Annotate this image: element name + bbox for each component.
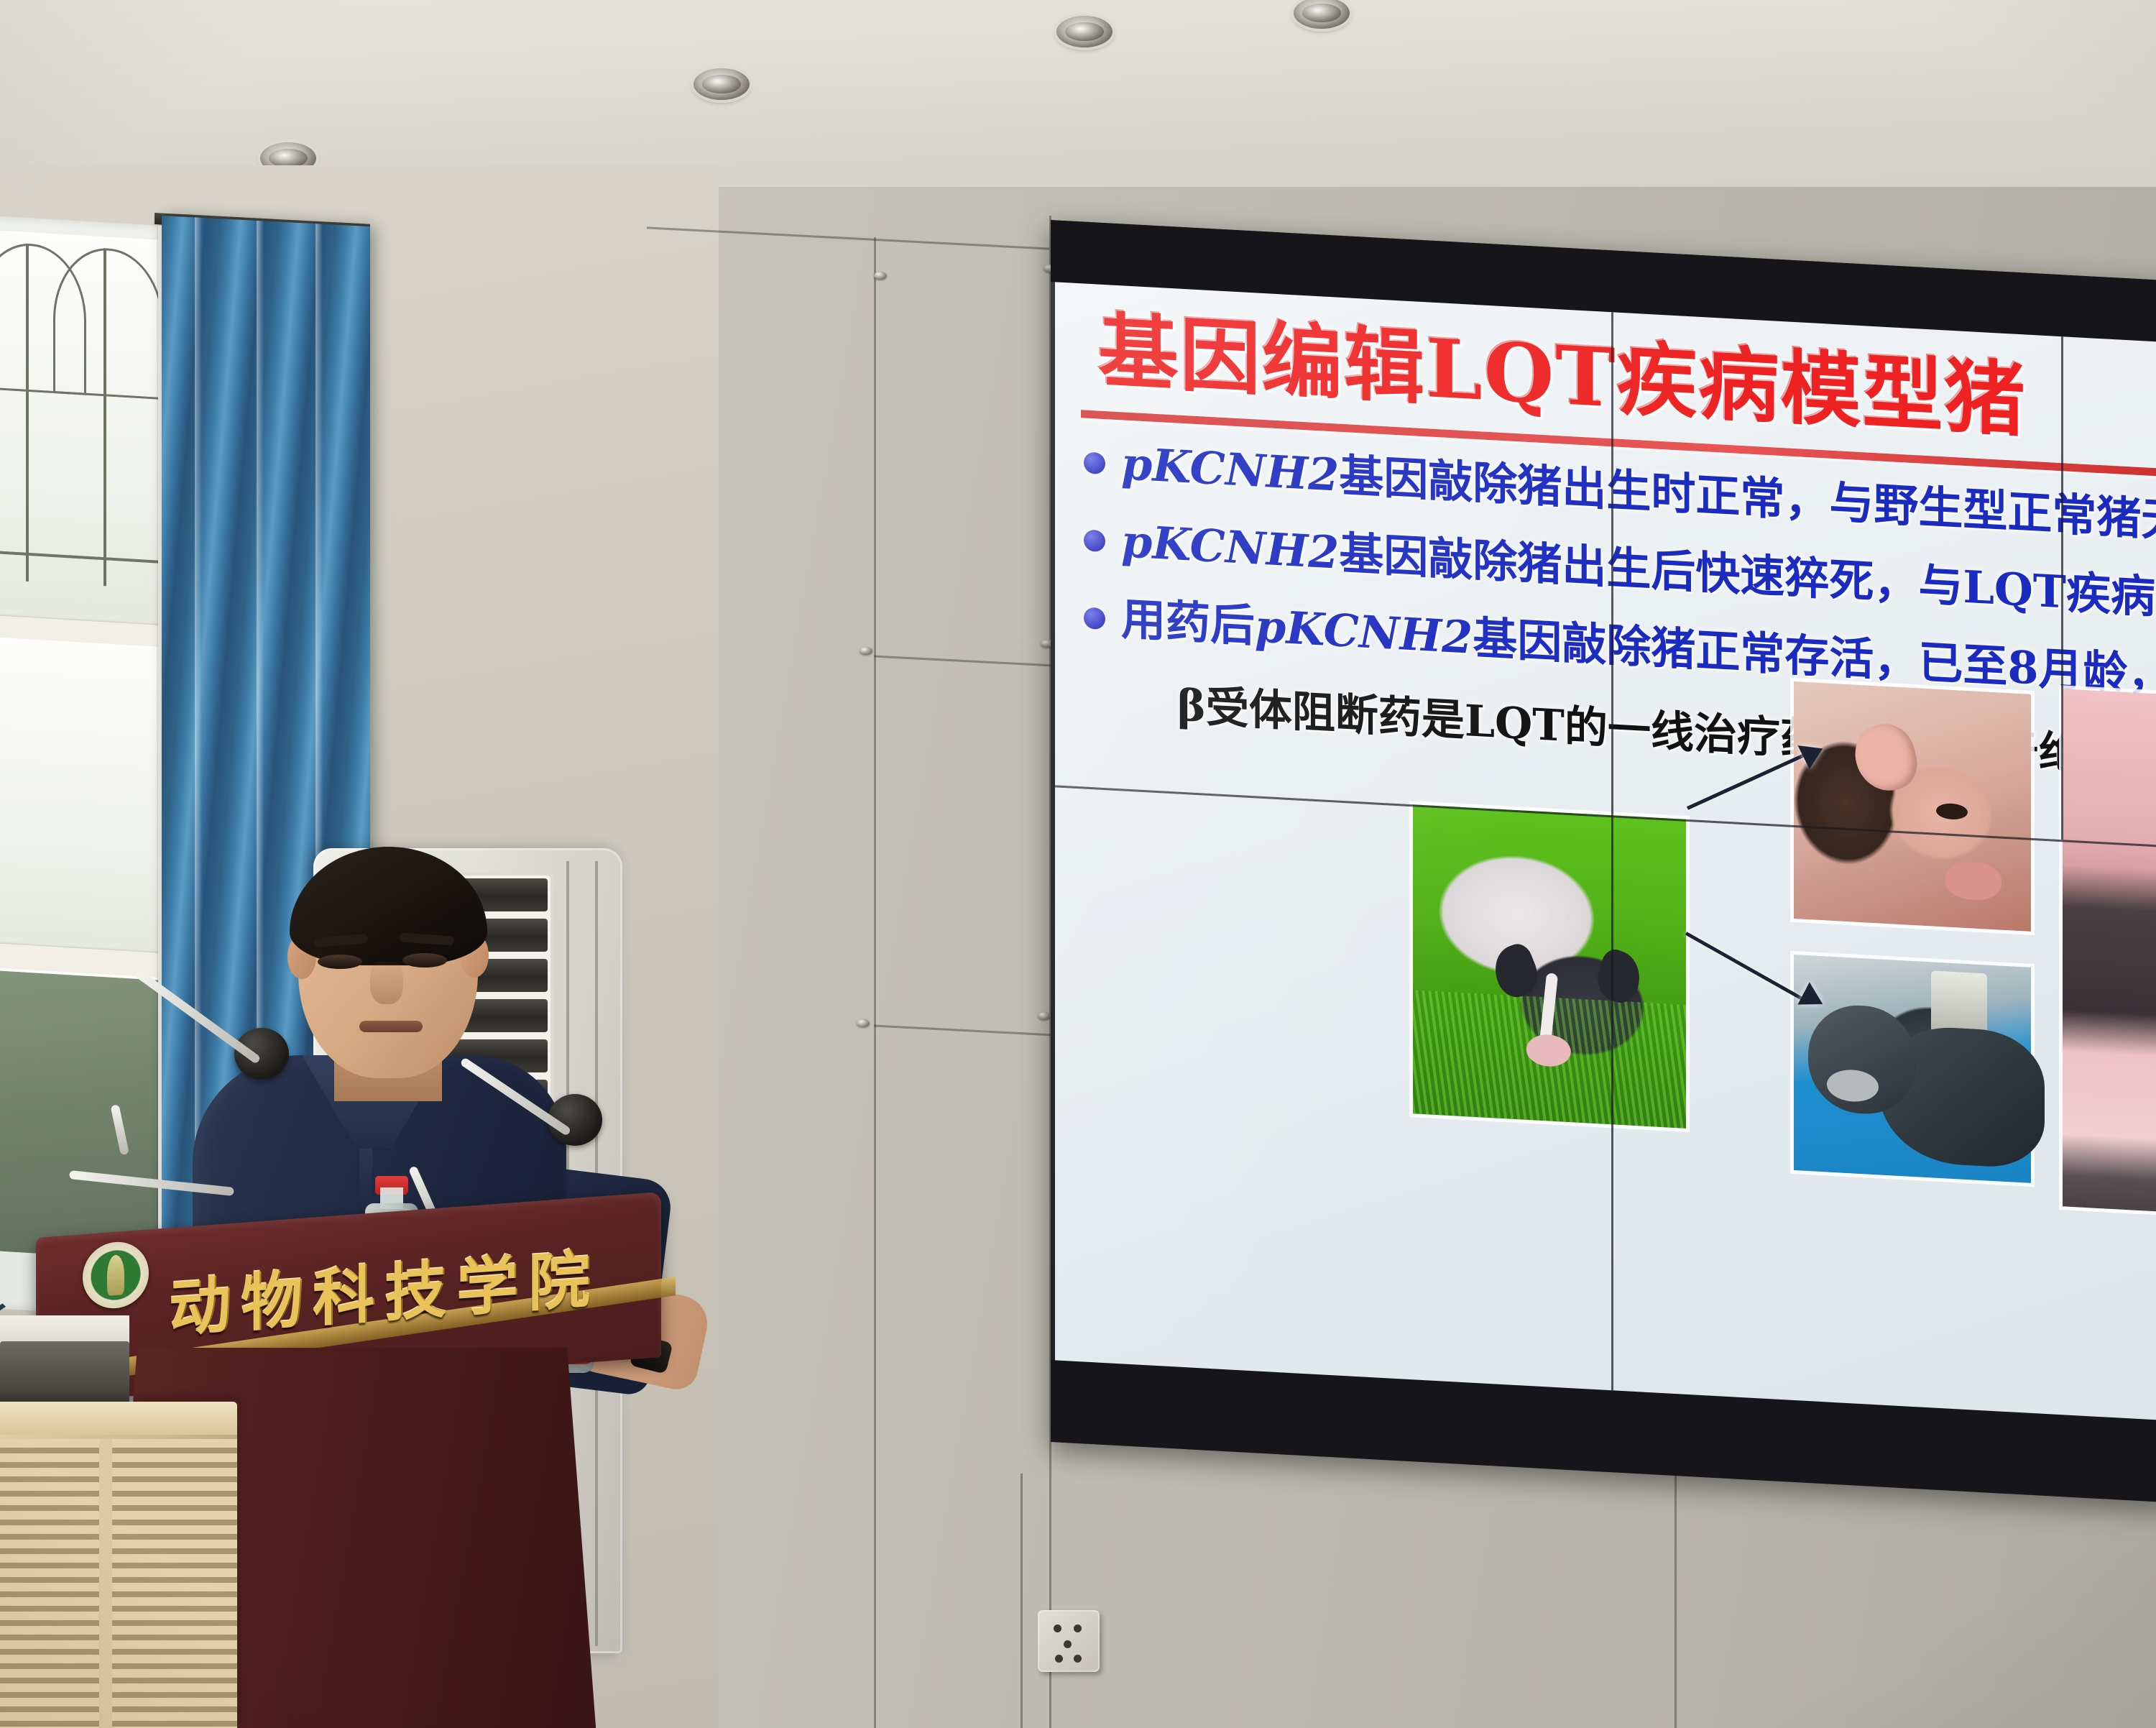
power-outlet[interactable] bbox=[1038, 1610, 1100, 1672]
videowall-seam-vertical bbox=[2061, 336, 2063, 840]
slide-photo-adult-pig bbox=[1413, 804, 1686, 1129]
slide-photo-right-edge bbox=[2063, 689, 2156, 1213]
bullet-dot-icon bbox=[1084, 607, 1105, 630]
wall-panel-seam bbox=[1674, 1452, 1677, 1728]
panel-screw-icon bbox=[860, 647, 872, 655]
slide-photo-newborn-piglet bbox=[1794, 681, 2031, 932]
radiator-cover bbox=[0, 1402, 237, 1728]
gene-name: pKCNH2 bbox=[1121, 515, 1339, 579]
wall-panel-seam bbox=[1021, 1474, 1023, 1728]
wall-panel-seam bbox=[874, 237, 876, 1728]
presentation-slide: 基因编辑LQT疾病模型猪 pKCNH2基因敲除猪出生时正常，与野生型正常猪无明显… bbox=[1055, 282, 2156, 1420]
lecture-hall-photo: 动物科技学院 基因编辑LQT疾病模型猪 pKCNH2基因敲除猪出生时正常，与野生… bbox=[0, 0, 2156, 1728]
slide-photo-black-piglet bbox=[1794, 955, 2031, 1183]
panel-screw-icon bbox=[857, 1019, 870, 1027]
projection-screen: 基因编辑LQT疾病模型猪 pKCNH2基因敲除猪出生时正常，与野生型正常猪无明显… bbox=[1051, 220, 2156, 1502]
ceiling-downlight-icon bbox=[1056, 16, 1112, 47]
bullet-dot-icon bbox=[1084, 451, 1105, 474]
panel-screw-icon bbox=[1038, 1012, 1051, 1020]
window bbox=[0, 216, 183, 1320]
videowall-seam-vertical bbox=[1611, 312, 1613, 1390]
gene-name: pKCNH2 bbox=[1255, 600, 1473, 664]
panel-screw-icon bbox=[874, 272, 887, 280]
gene-name: pKCNH2 bbox=[1121, 437, 1339, 501]
ceiling-downlight-icon bbox=[694, 68, 750, 100]
bullet-dot-icon bbox=[1084, 530, 1105, 553]
